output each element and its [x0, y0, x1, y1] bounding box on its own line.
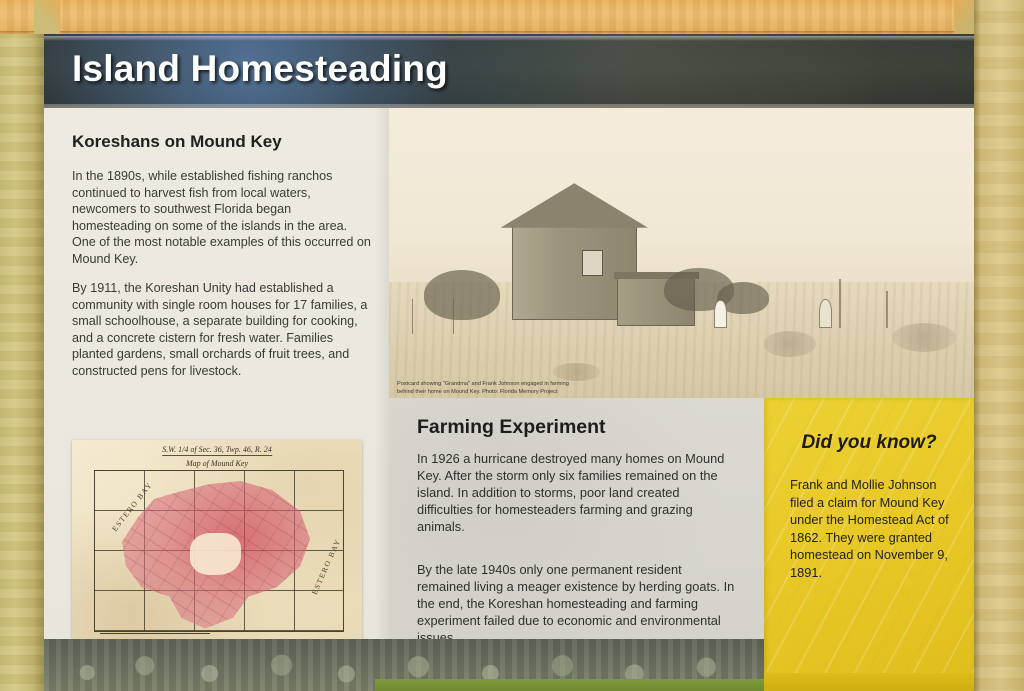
sign-header-band: Island Homesteading [44, 34, 974, 108]
farming-experiment-heading: Farming Experiment [417, 416, 606, 439]
map-header-line-2: Map of Mound Key [186, 459, 248, 468]
wood-frame-left [0, 0, 44, 691]
mound-key-map-image: S.W. 1/4 of Sec. 36, Twp. 46, R. 24 Map … [72, 440, 362, 660]
photo-house-window [582, 250, 604, 276]
photo-person-frank-johnson [819, 299, 832, 329]
farming-paragraph-1: In 1926 a hurricane destroyed many homes… [417, 450, 735, 535]
bottom-strip-yellow-edge [764, 673, 974, 691]
interpretive-sign-photo: Island Homesteading Koreshans on Mound K… [0, 0, 1024, 691]
koreshans-paragraph-1: In the 1890s, while established fishing … [72, 168, 372, 268]
photo-utility-pole [839, 279, 841, 328]
wood-frame-top [0, 0, 1024, 34]
map-island-clearing [190, 533, 241, 575]
sign-panel: Island Homesteading Koreshans on Mound K… [44, 34, 974, 691]
photo-caption-line-2: behind their home on Mound Key. Photo: F… [397, 389, 727, 397]
map-scale-bar [100, 633, 210, 634]
wood-frame-corner-top-left [34, 0, 60, 34]
wood-frame-right [974, 0, 1024, 691]
photo-tree [424, 270, 500, 319]
koreshans-subheading: Koreshans on Mound Key [72, 132, 372, 152]
koreshans-paragraph-2: By 1911, the Koreshan Unity had establis… [72, 280, 372, 380]
map-header-line-1: S.W. 1/4 of Sec. 36, Twp. 46, R. 24 [162, 445, 272, 456]
did-you-know-body: Frank and Mollie Johnson filed a claim f… [790, 476, 955, 581]
farming-paragraph-2: By the late 1940s only one permanent res… [417, 561, 735, 646]
photo-utility-pole [886, 291, 888, 329]
sign-body: Koreshans on Mound Key In the 1890s, whi… [44, 108, 974, 691]
landscape-grass [375, 679, 764, 691]
homestead-historic-photo: Postcard showing "Grandma" and Frank Joh… [389, 108, 974, 398]
photo-caption-line-1: Postcard showing "Grandma" and Frank Joh… [397, 381, 727, 389]
photo-fence-post [412, 299, 413, 334]
sign-title: Island Homesteading [72, 48, 448, 90]
photo-fence-post [453, 299, 454, 334]
bottom-landscape-photo-strip [44, 639, 764, 691]
photo-brush [892, 323, 956, 352]
left-text-column: Koreshans on Mound Key In the 1890s, whi… [44, 108, 389, 691]
did-you-know-title: Did you know? [764, 432, 974, 454]
did-you-know-panel: Did you know? Frank and Mollie Johnson f… [764, 398, 974, 691]
photo-person-grandma [714, 300, 727, 328]
photo-brush [553, 363, 600, 380]
photo-sky [389, 108, 974, 294]
